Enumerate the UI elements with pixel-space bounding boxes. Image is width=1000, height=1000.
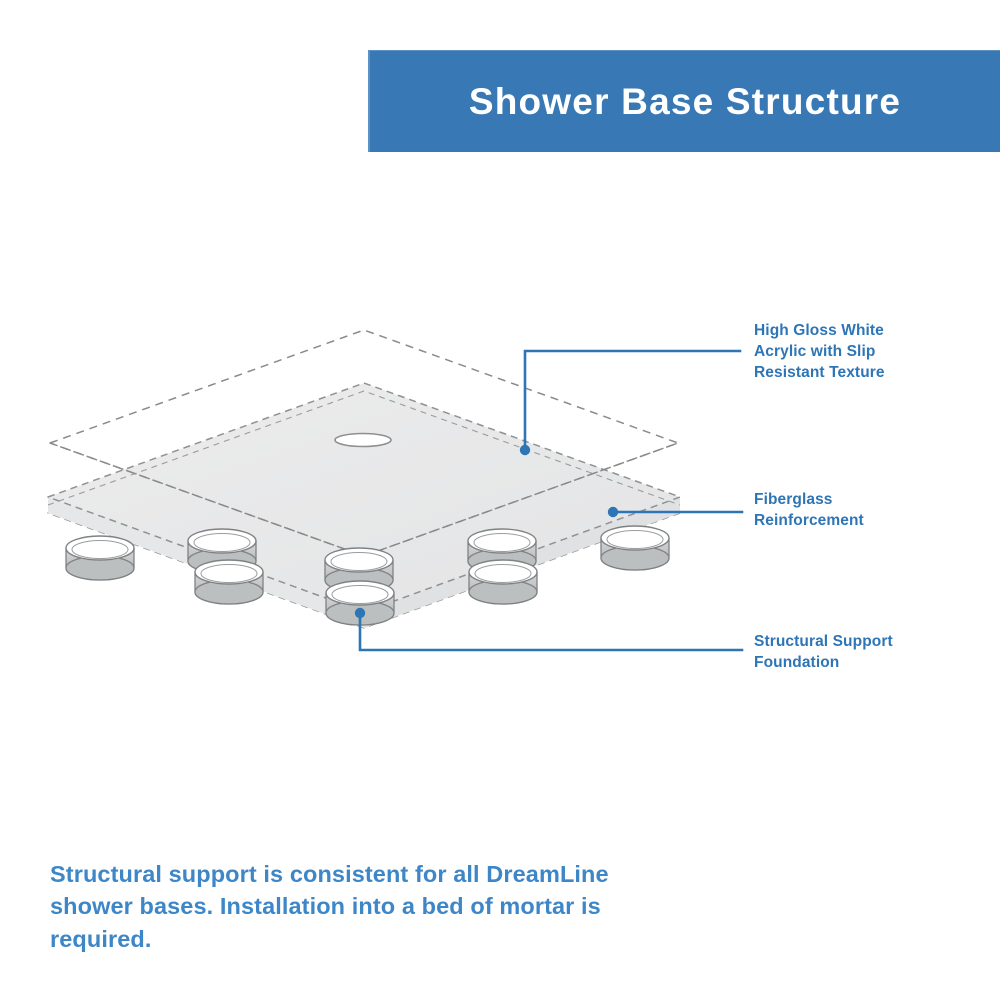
footer-caption: Structural support is consistent for all… — [50, 858, 690, 955]
support-pad-ring — [469, 560, 537, 604]
leader-dot-acrylic — [520, 445, 530, 455]
leader-line-acrylic — [525, 351, 740, 450]
leader-dot-support — [355, 608, 365, 618]
support-pad-ring — [601, 526, 669, 570]
leader-line-support — [360, 613, 742, 650]
callout-label-support: Structural Support Foundation — [754, 631, 986, 673]
support-pad-ring — [66, 536, 134, 580]
callout-label-acrylic: High Gloss White Acrylic with Slip Resis… — [754, 320, 986, 384]
support-pad-ring — [195, 560, 263, 604]
callout-label-fiberglass: Fiberglass Reinforcement — [754, 489, 986, 531]
diagram-page: Shower Base Structure — [0, 0, 1000, 1000]
leader-dot-fiberglass — [608, 507, 618, 517]
drain-opening-icon — [335, 434, 391, 447]
